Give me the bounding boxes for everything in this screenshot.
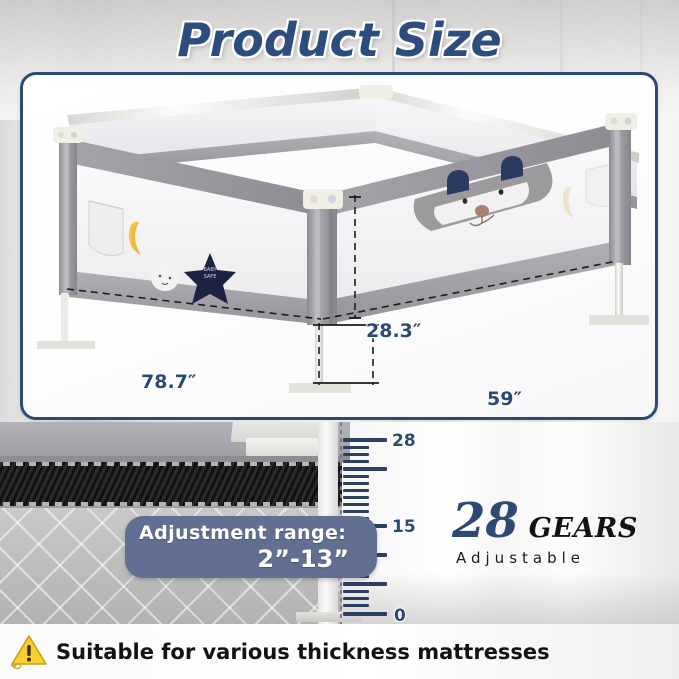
ruler-tick bbox=[343, 475, 369, 478]
leg-foot bbox=[37, 341, 95, 349]
caption-text: Suitable for various thickness mattresse… bbox=[56, 640, 550, 664]
mattress-side-band bbox=[0, 462, 342, 506]
page-title: Product Size bbox=[0, 13, 679, 67]
adjustment-range-value: 2”-13” bbox=[139, 545, 363, 573]
leg-foot bbox=[289, 383, 351, 393]
ruler-tick bbox=[343, 460, 369, 463]
ruler-tick bbox=[343, 604, 369, 607]
support-leg bbox=[615, 263, 623, 315]
product-size-infographic: Product Size bbox=[0, 0, 679, 679]
dimension-label-width: 59″ bbox=[487, 388, 522, 410]
ruler-tick bbox=[343, 612, 387, 616]
ruler-tick bbox=[343, 453, 369, 456]
ruler-tick bbox=[343, 590, 369, 593]
corner-bracket-icon bbox=[303, 189, 343, 209]
corner-bracket-icon bbox=[605, 113, 637, 130]
warning-triangle-icon bbox=[8, 631, 50, 673]
adjustment-range-title: Adjustment range: bbox=[139, 522, 363, 544]
rail-bracket-plate bbox=[246, 438, 318, 456]
dimension-label-height: 28.3″ bbox=[366, 320, 421, 342]
ruler-tick bbox=[343, 510, 369, 513]
bed-rail-illustration: BABY SAFE bbox=[23, 75, 655, 417]
ruler-tick bbox=[343, 467, 387, 471]
ruler-tick bbox=[343, 597, 369, 600]
ruler-tick bbox=[343, 446, 369, 449]
corner-bracket-icon bbox=[53, 127, 83, 143]
ruler-tick bbox=[343, 438, 387, 442]
ruler-label-28: 28 bbox=[392, 431, 416, 451]
ruler-tick bbox=[343, 496, 369, 499]
gears-subtitle: Adjustable bbox=[456, 549, 672, 567]
storage-pocket-icon bbox=[89, 201, 123, 256]
ruler-tick bbox=[343, 489, 369, 492]
corner-bracket-icon bbox=[359, 85, 393, 99]
svg-text:BABY: BABY bbox=[203, 267, 217, 273]
ruler-label-0: 0 bbox=[394, 606, 406, 624]
svg-text:SAFE: SAFE bbox=[204, 274, 217, 280]
mattress-stitching bbox=[0, 462, 342, 466]
ruler-tick bbox=[343, 503, 369, 506]
gears-callout: 28 GEARS Adjustable bbox=[452, 497, 672, 567]
leg-foot bbox=[589, 315, 649, 325]
gears-word: GEARS bbox=[529, 513, 638, 544]
ruler-tick bbox=[343, 482, 369, 485]
gears-row: 28 GEARS bbox=[452, 497, 672, 545]
adjustment-range-badge: Adjustment range: 2”-13” bbox=[125, 516, 377, 578]
dimension-label-length: 78.7″ bbox=[141, 371, 196, 393]
ruler-tick bbox=[343, 582, 387, 586]
product-diagram-panel: BABY SAFE bbox=[20, 72, 658, 420]
ruler-label-15: 15 bbox=[392, 517, 416, 537]
bottom-caption-bar: Suitable for various thickness mattresse… bbox=[0, 624, 679, 679]
gears-number: 28 bbox=[452, 497, 519, 545]
